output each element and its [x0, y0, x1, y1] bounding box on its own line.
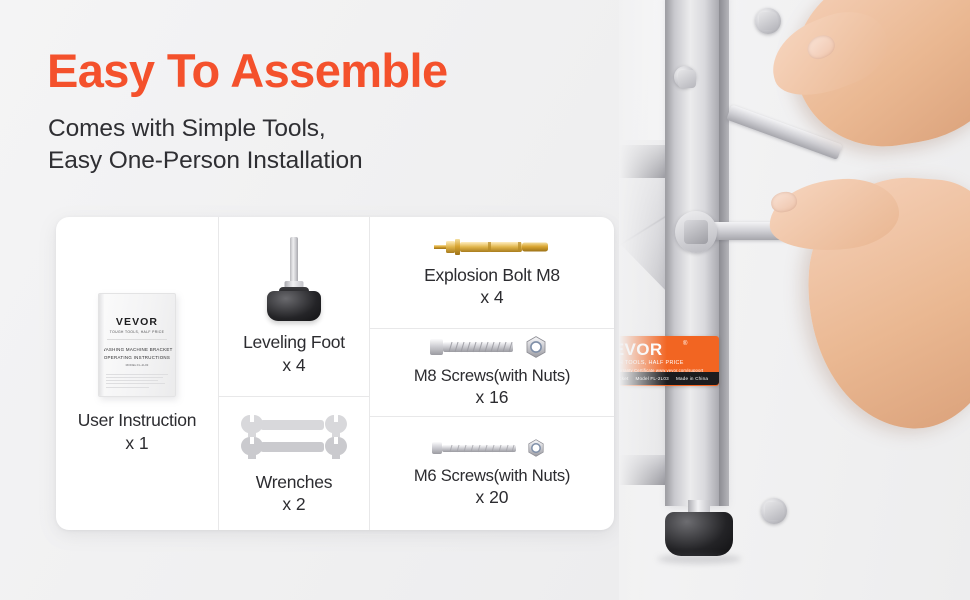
part-quantity: x 4 — [282, 354, 305, 376]
parts-column-2: Leveling Foot x 4 — [218, 217, 370, 530]
parts-list-card: VEVOR TOUGH TOOLS, HALF PRICE WASHING MA… — [56, 217, 614, 530]
bolt-head-top — [755, 8, 781, 34]
part-quantity: x 4 — [480, 286, 503, 308]
bracket-horizontal-arm-upper — [619, 145, 675, 181]
part-quantity: x 1 — [125, 432, 148, 454]
leveling-foot-on-post — [663, 500, 735, 562]
bolt-head-upper-arm — [674, 66, 696, 88]
subheading: Comes with Simple Tools, Easy One-Person… — [48, 113, 568, 178]
wrenches-icon — [238, 411, 350, 471]
part-label: M6 Screws(with Nuts) — [414, 465, 570, 486]
sticker-product-name: hine bracket — [619, 376, 628, 381]
m6-screw-nut-icon — [428, 438, 556, 458]
part-item-m6-screws: M6 Screws(with Nuts) x 20 — [370, 416, 614, 530]
part-item-user-instruction: VEVOR TOUGH TOOLS, HALF PRICE WASHING MA… — [56, 217, 218, 530]
leveling-foot-icon — [262, 237, 326, 331]
part-item-explosion-bolt: Explosion Bolt M8 x 4 — [370, 217, 614, 328]
m8-screw-nut-icon — [428, 336, 556, 358]
sticker-model-bar: hine bracket Model FL-2L03 Made in China — [619, 372, 719, 385]
sticker-tagline: TOUGH TOOLS, HALF PRICE — [619, 360, 684, 366]
manual-title-line-2: OPERATING INSTRUCTIONS — [104, 355, 170, 360]
part-quantity: x 2 — [282, 493, 305, 515]
part-label: User Instruction — [78, 409, 197, 431]
parts-column-1: VEVOR TOUGH TOOLS, HALF PRICE WASHING MA… — [56, 217, 218, 530]
explosion-bolt-icon — [432, 237, 552, 257]
manual-model: MODEL:FL-2L03 — [126, 363, 149, 367]
part-item-m8-screws: M8 Screws(with Nuts) x 16 — [370, 328, 614, 416]
product-marketing-image: Easy To Assemble Comes with Simple Tools… — [0, 0, 970, 600]
parts-column-3: Explosion Bolt M8 x 4 — [370, 217, 614, 530]
part-label: Leveling Foot — [243, 331, 345, 353]
part-quantity: x 16 — [475, 386, 508, 408]
manual-body-lines — [106, 374, 168, 390]
bracket-horizontal-arm-lower — [619, 455, 675, 485]
part-item-wrenches: Wrenches x 2 — [219, 396, 369, 529]
sticker-registered-mark: ® — [683, 341, 687, 347]
sticker-model-number: Model FL-2L03 — [635, 376, 669, 381]
bracket-gusset-edge — [619, 178, 673, 298]
manual-brand: VEVOR — [116, 316, 158, 328]
sticker-origin: Made in China — [676, 376, 708, 381]
subheading-line-2: Easy One-Person Installation — [48, 145, 568, 177]
bolt-head-bottom — [761, 498, 787, 524]
sticker-brand: VEVOR — [619, 340, 663, 360]
part-item-leveling-foot: Leveling Foot x 4 — [219, 217, 369, 396]
headline: Easy To Assemble — [47, 47, 607, 96]
bracket-gusset — [619, 178, 673, 298]
subheading-line-1: Comes with Simple Tools, — [48, 113, 568, 145]
part-quantity: x 20 — [475, 486, 508, 508]
part-label: Wrenches — [256, 471, 332, 493]
part-label: M8 Screws(with Nuts) — [414, 365, 570, 386]
manual-booklet-icon: VEVOR TOUGH TOOLS, HALF PRICE WASHING MA… — [98, 293, 176, 409]
product-photo: VEVOR ® TOUGH TOOLS, HALF PRICE and 5-Wa… — [619, 0, 970, 600]
bracket-post-edge — [719, 0, 729, 506]
manual-tagline: TOUGH TOOLS, HALF PRICE — [110, 330, 164, 334]
manual-title-line-1: WASHING MACHINE BRACKET — [101, 347, 172, 352]
part-label: Explosion Bolt M8 — [424, 264, 560, 286]
